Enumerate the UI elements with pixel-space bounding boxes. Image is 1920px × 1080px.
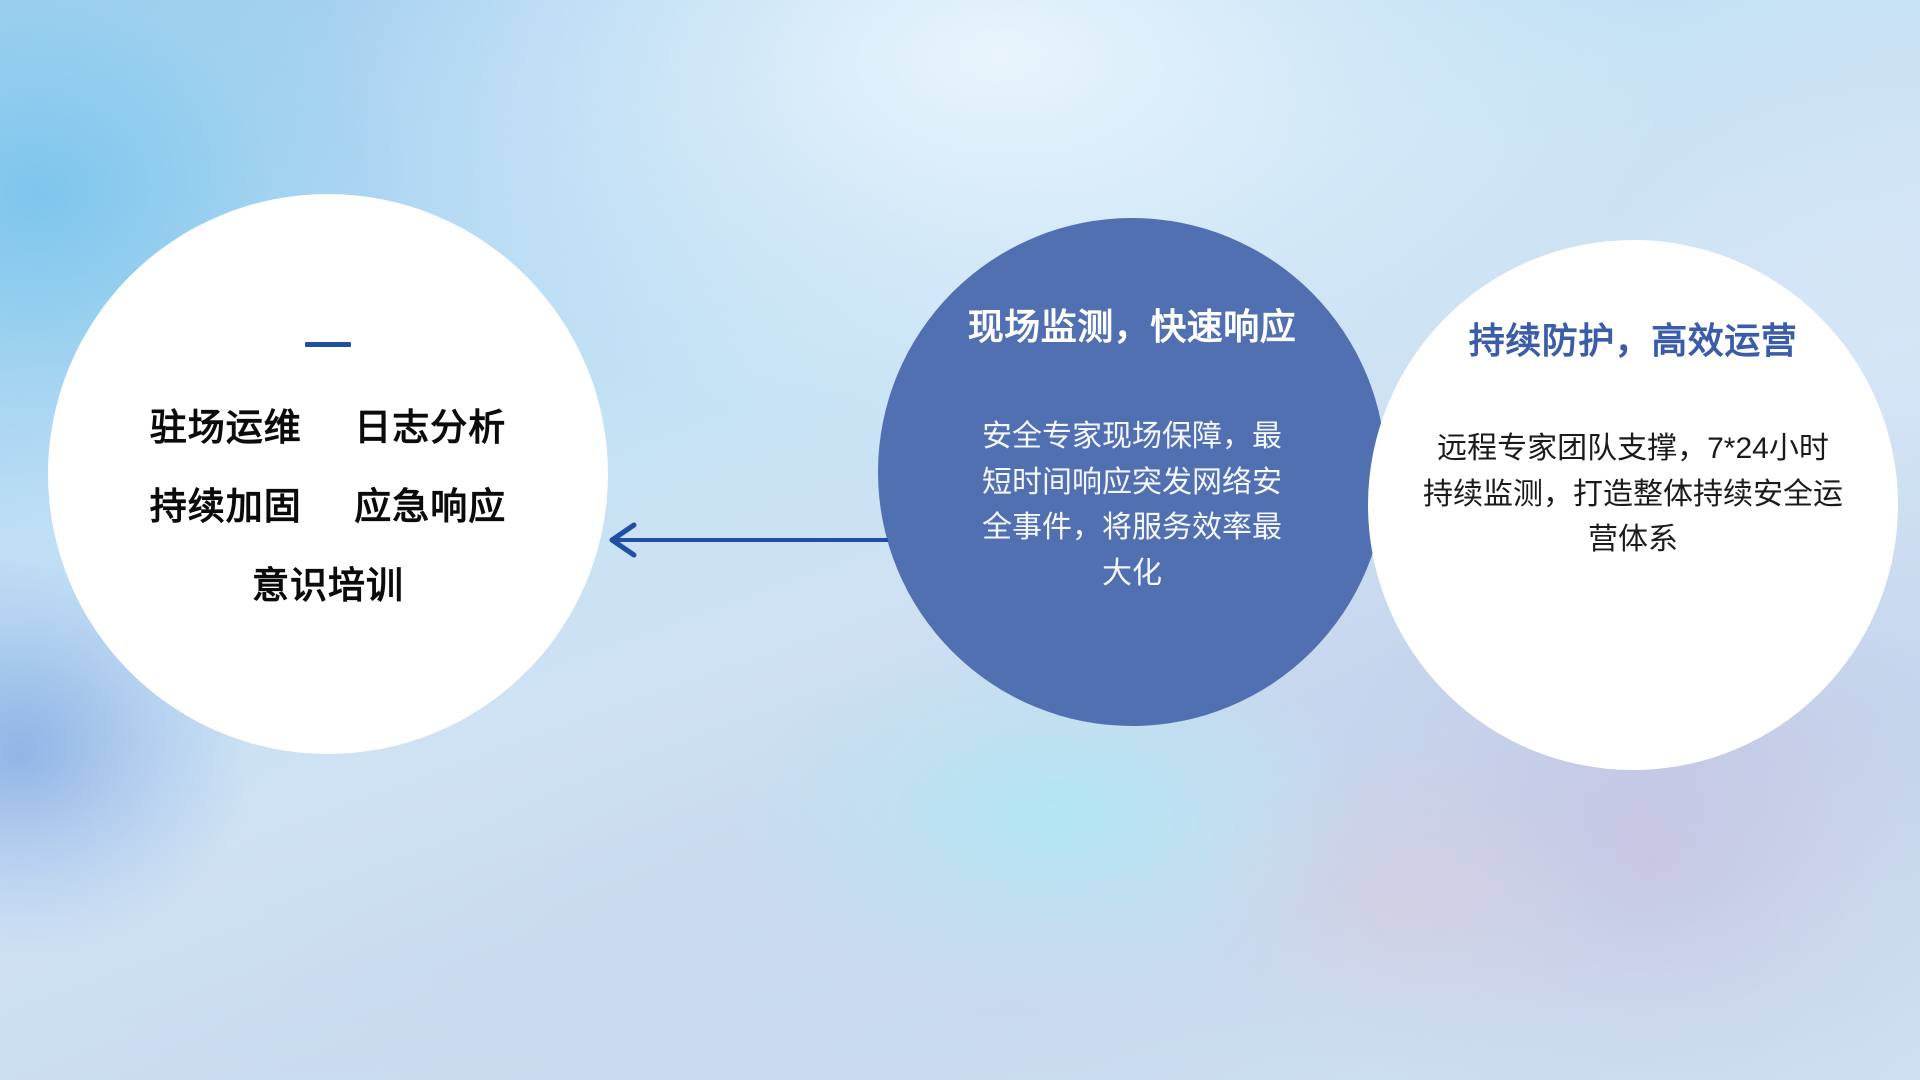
flow-arrow-icon	[600, 512, 890, 568]
capabilities-content: 驻场运维 日志分析 持续加固 应急响应 意识培训	[48, 194, 608, 754]
continuous-protection-title: 持续防护，高效运营	[1469, 312, 1798, 364]
capability-row-2: 持续加固 应急响应	[150, 488, 507, 527]
continuous-protection-body: 远程专家团队支撑，7*24小时持续监测，打造整体持续安全运营体系	[1423, 426, 1843, 563]
continuous-protection-circle: 持续防护，高效运营 远程专家团队支撑，7*24小时持续监测，打造整体持续安全运营…	[1368, 240, 1898, 770]
capability-label-1b: 日志分析	[354, 407, 506, 448]
onsite-monitoring-title: 现场监测，快速响应	[968, 298, 1297, 350]
slide-canvas: 驻场运维 日志分析 持续加固 应急响应 意识培训 现场监测，快速响应 安全专家现…	[0, 0, 1920, 1080]
onsite-monitoring-circle: 现场监测，快速响应 安全专家现场保障，最短时间响应突发网络安全事件，将服务效率最…	[878, 218, 1386, 726]
continuous-protection-content: 持续防护，高效运营 远程专家团队支撑，7*24小时持续监测，打造整体持续安全运营…	[1368, 240, 1898, 770]
capability-label-2a: 持续加固	[150, 486, 302, 527]
capability-label-3a: 意识培训	[252, 565, 404, 606]
capability-row-3: 意识培训	[252, 567, 404, 606]
capability-label-2b: 应急响应	[354, 486, 506, 527]
onsite-monitoring-body: 安全专家现场保障，最短时间响应突发网络安全事件，将服务效率最大化	[972, 414, 1292, 596]
onsite-monitoring-content: 现场监测，快速响应 安全专家现场保障，最短时间响应突发网络安全事件，将服务效率最…	[878, 218, 1386, 726]
capability-label-1a: 驻场运维	[150, 407, 302, 448]
accent-rule-icon	[305, 342, 351, 347]
capability-row-1: 驻场运维 日志分析	[150, 409, 507, 448]
capabilities-circle: 驻场运维 日志分析 持续加固 应急响应 意识培训	[48, 194, 608, 754]
